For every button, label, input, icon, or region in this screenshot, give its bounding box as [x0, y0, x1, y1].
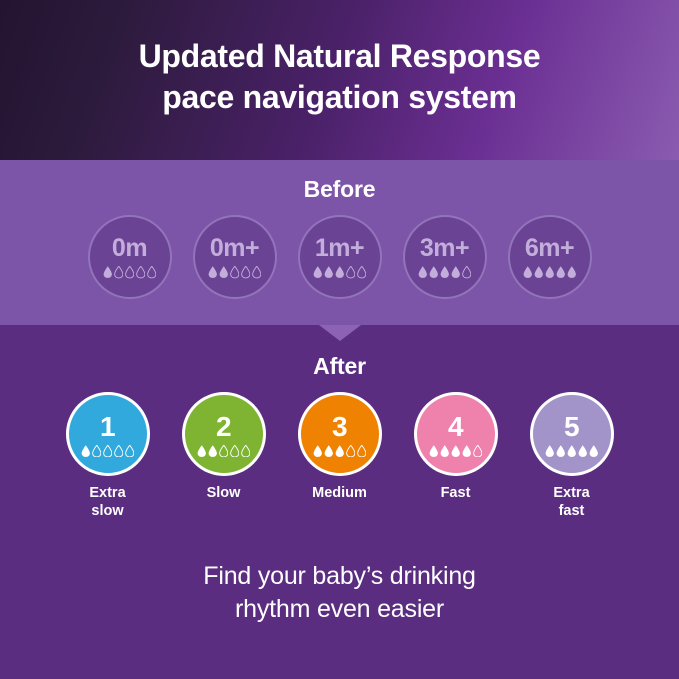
drop-outline-icon: [114, 445, 124, 457]
drop-filled-icon: [556, 266, 566, 278]
before-circle: 6m+: [508, 215, 592, 299]
after-item-1[interactable]: 1Extra slow: [60, 392, 155, 521]
before-item-6mplus[interactable]: 6m+: [508, 215, 592, 299]
drop-filled-icon: [418, 266, 428, 278]
after-item-3[interactable]: 3Medium: [292, 392, 387, 503]
before-age-label: 3m+: [420, 236, 469, 261]
drop-filled-icon: [462, 445, 472, 457]
before-section: Before 0m0m+1m+3m+6m+: [0, 160, 679, 325]
drop-outline-icon: [357, 445, 367, 457]
before-circle: 3m+: [403, 215, 487, 299]
drop-filled-icon: [81, 445, 91, 457]
drop-filled-icon: [545, 266, 555, 278]
drop-filled-icon: [335, 266, 345, 278]
drop-filled-icon: [589, 445, 599, 457]
drop-filled-icon: [451, 445, 461, 457]
drop-outline-icon: [136, 266, 146, 278]
drop-outline-icon: [241, 266, 251, 278]
drop-filled-icon: [208, 266, 218, 278]
before-flow-drops: [208, 266, 262, 278]
before-age-label: 6m+: [525, 236, 574, 261]
drop-outline-icon: [473, 445, 483, 457]
drop-outline-icon: [230, 266, 240, 278]
drop-outline-icon: [125, 445, 135, 457]
drop-filled-icon: [429, 445, 439, 457]
before-item-3mplus[interactable]: 3m+: [403, 215, 487, 299]
before-age-label: 0m: [112, 236, 147, 261]
drop-outline-icon: [125, 266, 135, 278]
after-item-5[interactable]: 5Extra fast: [524, 392, 619, 521]
page-title: Updated Natural Response pace navigation…: [0, 36, 679, 117]
drop-outline-icon: [114, 266, 124, 278]
drop-filled-icon: [567, 266, 577, 278]
before-circle: 0m: [88, 215, 172, 299]
infographic-root: Updated Natural Response pace navigation…: [0, 0, 679, 679]
after-flow-drops: [197, 445, 251, 457]
drop-filled-icon: [335, 445, 345, 457]
before-heading: Before: [0, 160, 679, 203]
before-item-0m[interactable]: 0m: [88, 215, 172, 299]
before-flow-drops: [523, 266, 577, 278]
after-flow-number: 1: [100, 413, 115, 441]
before-circle: 0m+: [193, 215, 277, 299]
after-circle: 2: [182, 392, 266, 476]
drop-outline-icon: [346, 266, 356, 278]
drop-filled-icon: [429, 266, 439, 278]
after-flow-label: Medium: [312, 485, 367, 503]
drop-filled-icon: [534, 266, 544, 278]
before-circle-row: 0m0m+1m+3m+6m+: [0, 215, 679, 299]
drop-outline-icon: [92, 445, 102, 457]
page-title-line1: Updated Natural Response: [139, 38, 541, 74]
drop-filled-icon: [324, 445, 334, 457]
drop-outline-icon: [252, 266, 262, 278]
drop-filled-icon: [208, 445, 218, 457]
drop-filled-icon: [567, 445, 577, 457]
after-flow-number: 3: [332, 413, 347, 441]
after-circle-row: 1Extra slow2Slow3Medium4Fast5Extra fast: [0, 392, 679, 521]
drop-filled-icon: [523, 266, 533, 278]
header-banner: Updated Natural Response pace navigation…: [0, 0, 679, 160]
drop-filled-icon: [103, 266, 113, 278]
before-item-0mplus[interactable]: 0m+: [193, 215, 277, 299]
before-flow-drops: [418, 266, 472, 278]
drop-filled-icon: [556, 445, 566, 457]
drop-outline-icon: [219, 445, 229, 457]
after-circle: 1: [66, 392, 150, 476]
after-flow-label: Extra fast: [553, 485, 589, 521]
drop-filled-icon: [545, 445, 555, 457]
after-item-2[interactable]: 2Slow: [176, 392, 271, 503]
after-item-4[interactable]: 4Fast: [408, 392, 503, 503]
drop-outline-icon: [346, 445, 356, 457]
footer-tagline-line1: Find your baby’s drinking: [203, 562, 475, 590]
drop-filled-icon: [313, 445, 323, 457]
before-flow-drops: [103, 266, 157, 278]
drop-outline-icon: [230, 445, 240, 457]
after-flow-number: 2: [216, 413, 231, 441]
drop-outline-icon: [241, 445, 251, 457]
drop-outline-icon: [462, 266, 472, 278]
after-flow-drops: [545, 445, 599, 457]
after-circle: 3: [298, 392, 382, 476]
after-flow-label: Extra slow: [89, 485, 125, 521]
before-age-label: 1m+: [315, 236, 364, 261]
drop-filled-icon: [440, 266, 450, 278]
after-circle: 4: [414, 392, 498, 476]
drop-filled-icon: [440, 445, 450, 457]
page-title-line2: pace navigation system: [55, 77, 624, 118]
drop-outline-icon: [357, 266, 367, 278]
drop-outline-icon: [103, 445, 113, 457]
arrow-down-icon: [319, 325, 361, 341]
after-flow-number: 4: [448, 413, 463, 441]
footer-tagline-line2: rhythm even easier: [60, 593, 619, 626]
after-flow-drops: [313, 445, 367, 457]
drop-filled-icon: [219, 266, 229, 278]
drop-filled-icon: [197, 445, 207, 457]
before-flow-drops: [313, 266, 367, 278]
drop-filled-icon: [324, 266, 334, 278]
after-circle: 5: [530, 392, 614, 476]
drop-filled-icon: [313, 266, 323, 278]
before-circle: 1m+: [298, 215, 382, 299]
before-item-1mplus[interactable]: 1m+: [298, 215, 382, 299]
after-flow-number: 5: [564, 413, 579, 441]
after-flow-drops: [81, 445, 135, 457]
before-age-label: 0m+: [210, 236, 259, 261]
after-section: After 1Extra slow2Slow3Medium4Fast5Extra…: [0, 325, 679, 679]
drop-filled-icon: [451, 266, 461, 278]
drop-filled-icon: [578, 445, 588, 457]
after-flow-label: Slow: [207, 485, 241, 503]
after-flow-label: Fast: [441, 485, 471, 503]
footer-tagline: Find your baby’s drinking rhythm even ea…: [0, 560, 679, 626]
after-flow-drops: [429, 445, 483, 457]
drop-outline-icon: [147, 266, 157, 278]
